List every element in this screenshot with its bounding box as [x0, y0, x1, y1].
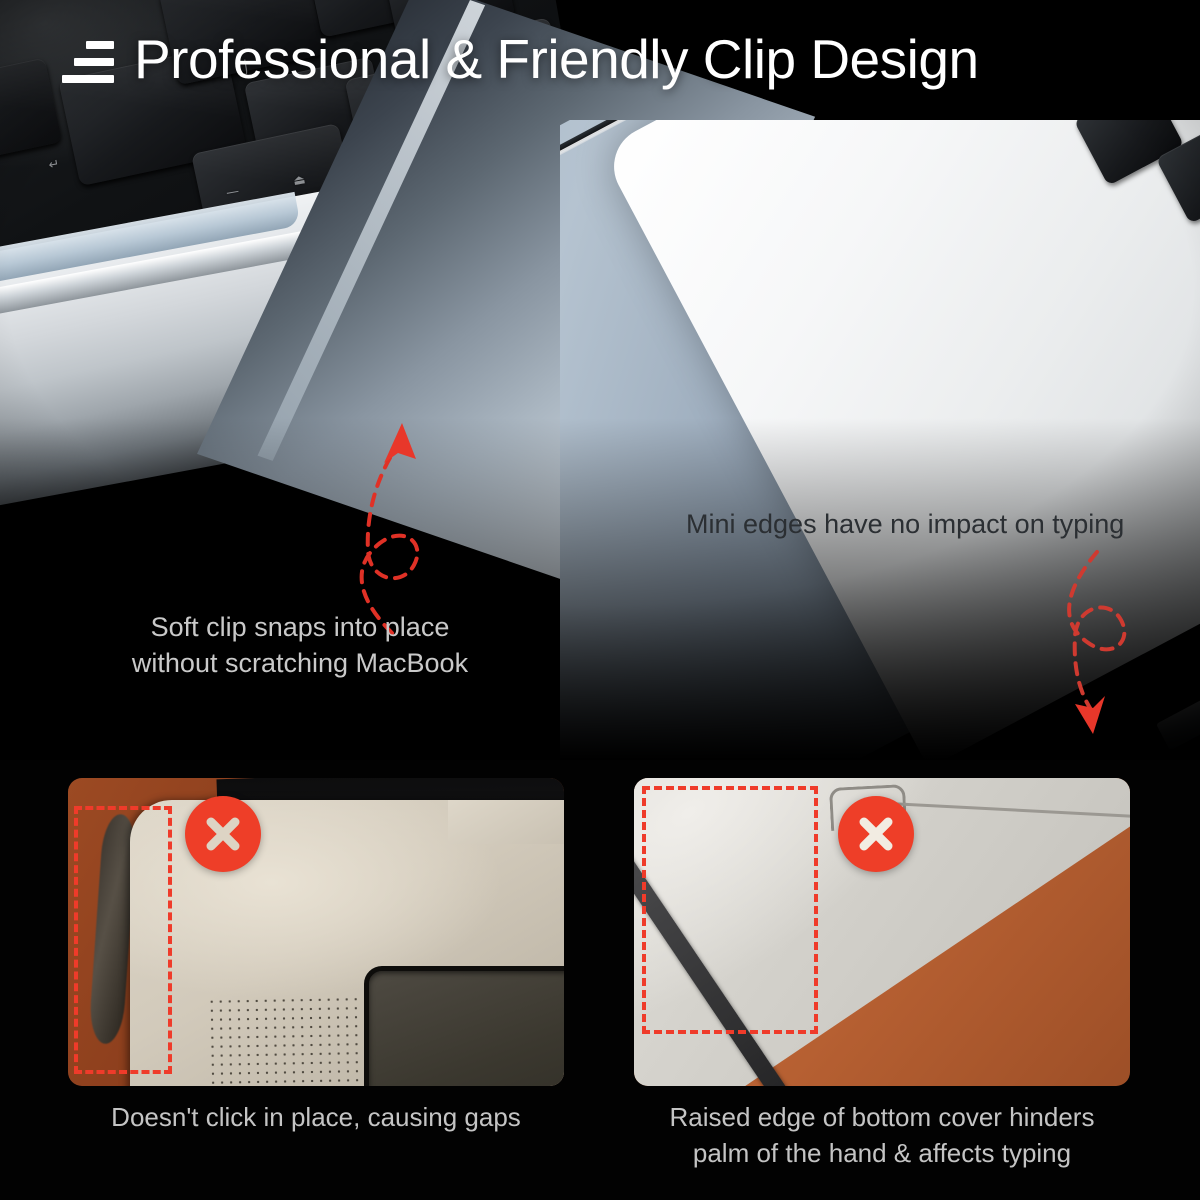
- comparison-photo-right: [634, 778, 1130, 1086]
- callout-left-line1: Soft clip snaps into place: [90, 610, 510, 646]
- curly-dashed-arrow-down-icon: [1035, 548, 1175, 738]
- speaker-grille: [207, 995, 359, 1086]
- comparison-caption-right: Raised edge of bottom cover hinders palm…: [614, 1100, 1150, 1172]
- x-mark-icon: [185, 796, 261, 872]
- key-glyph-eject: ⏏: [292, 172, 307, 189]
- stack-lines-icon: [62, 41, 114, 83]
- callout-right: Mini edges have no impact on typing: [686, 508, 1124, 542]
- page-title-row: Professional & Friendly Clip Design: [62, 32, 979, 87]
- comparison-caption-left: Doesn't click in place, causing gaps: [48, 1100, 584, 1136]
- callout-left-line2: without scratching MacBook: [90, 646, 510, 682]
- dashed-highlight-box: [642, 786, 818, 1034]
- comparison-photo-left: [68, 778, 564, 1086]
- comparison-caption-right-line2: palm of the hand & affects typing: [614, 1136, 1150, 1172]
- trackpad: [364, 966, 564, 1086]
- callout-left: Soft clip snaps into place without scrat…: [90, 610, 510, 681]
- dashed-highlight-box: [74, 806, 172, 1074]
- comparison-caption-right-line1: Raised edge of bottom cover hinders: [614, 1100, 1150, 1136]
- keyboard-key: [0, 58, 62, 167]
- key-glyph-minus: —: [225, 184, 240, 201]
- x-mark-icon: [838, 796, 914, 872]
- key-glyph-return: ↵: [47, 157, 60, 174]
- cover-step-edge: [448, 800, 564, 844]
- product-infographic: ↵ ⌡ — + = ⏏ F12 fn c: [0, 0, 1200, 1200]
- page-title: Professional & Friendly Clip Design: [134, 32, 979, 87]
